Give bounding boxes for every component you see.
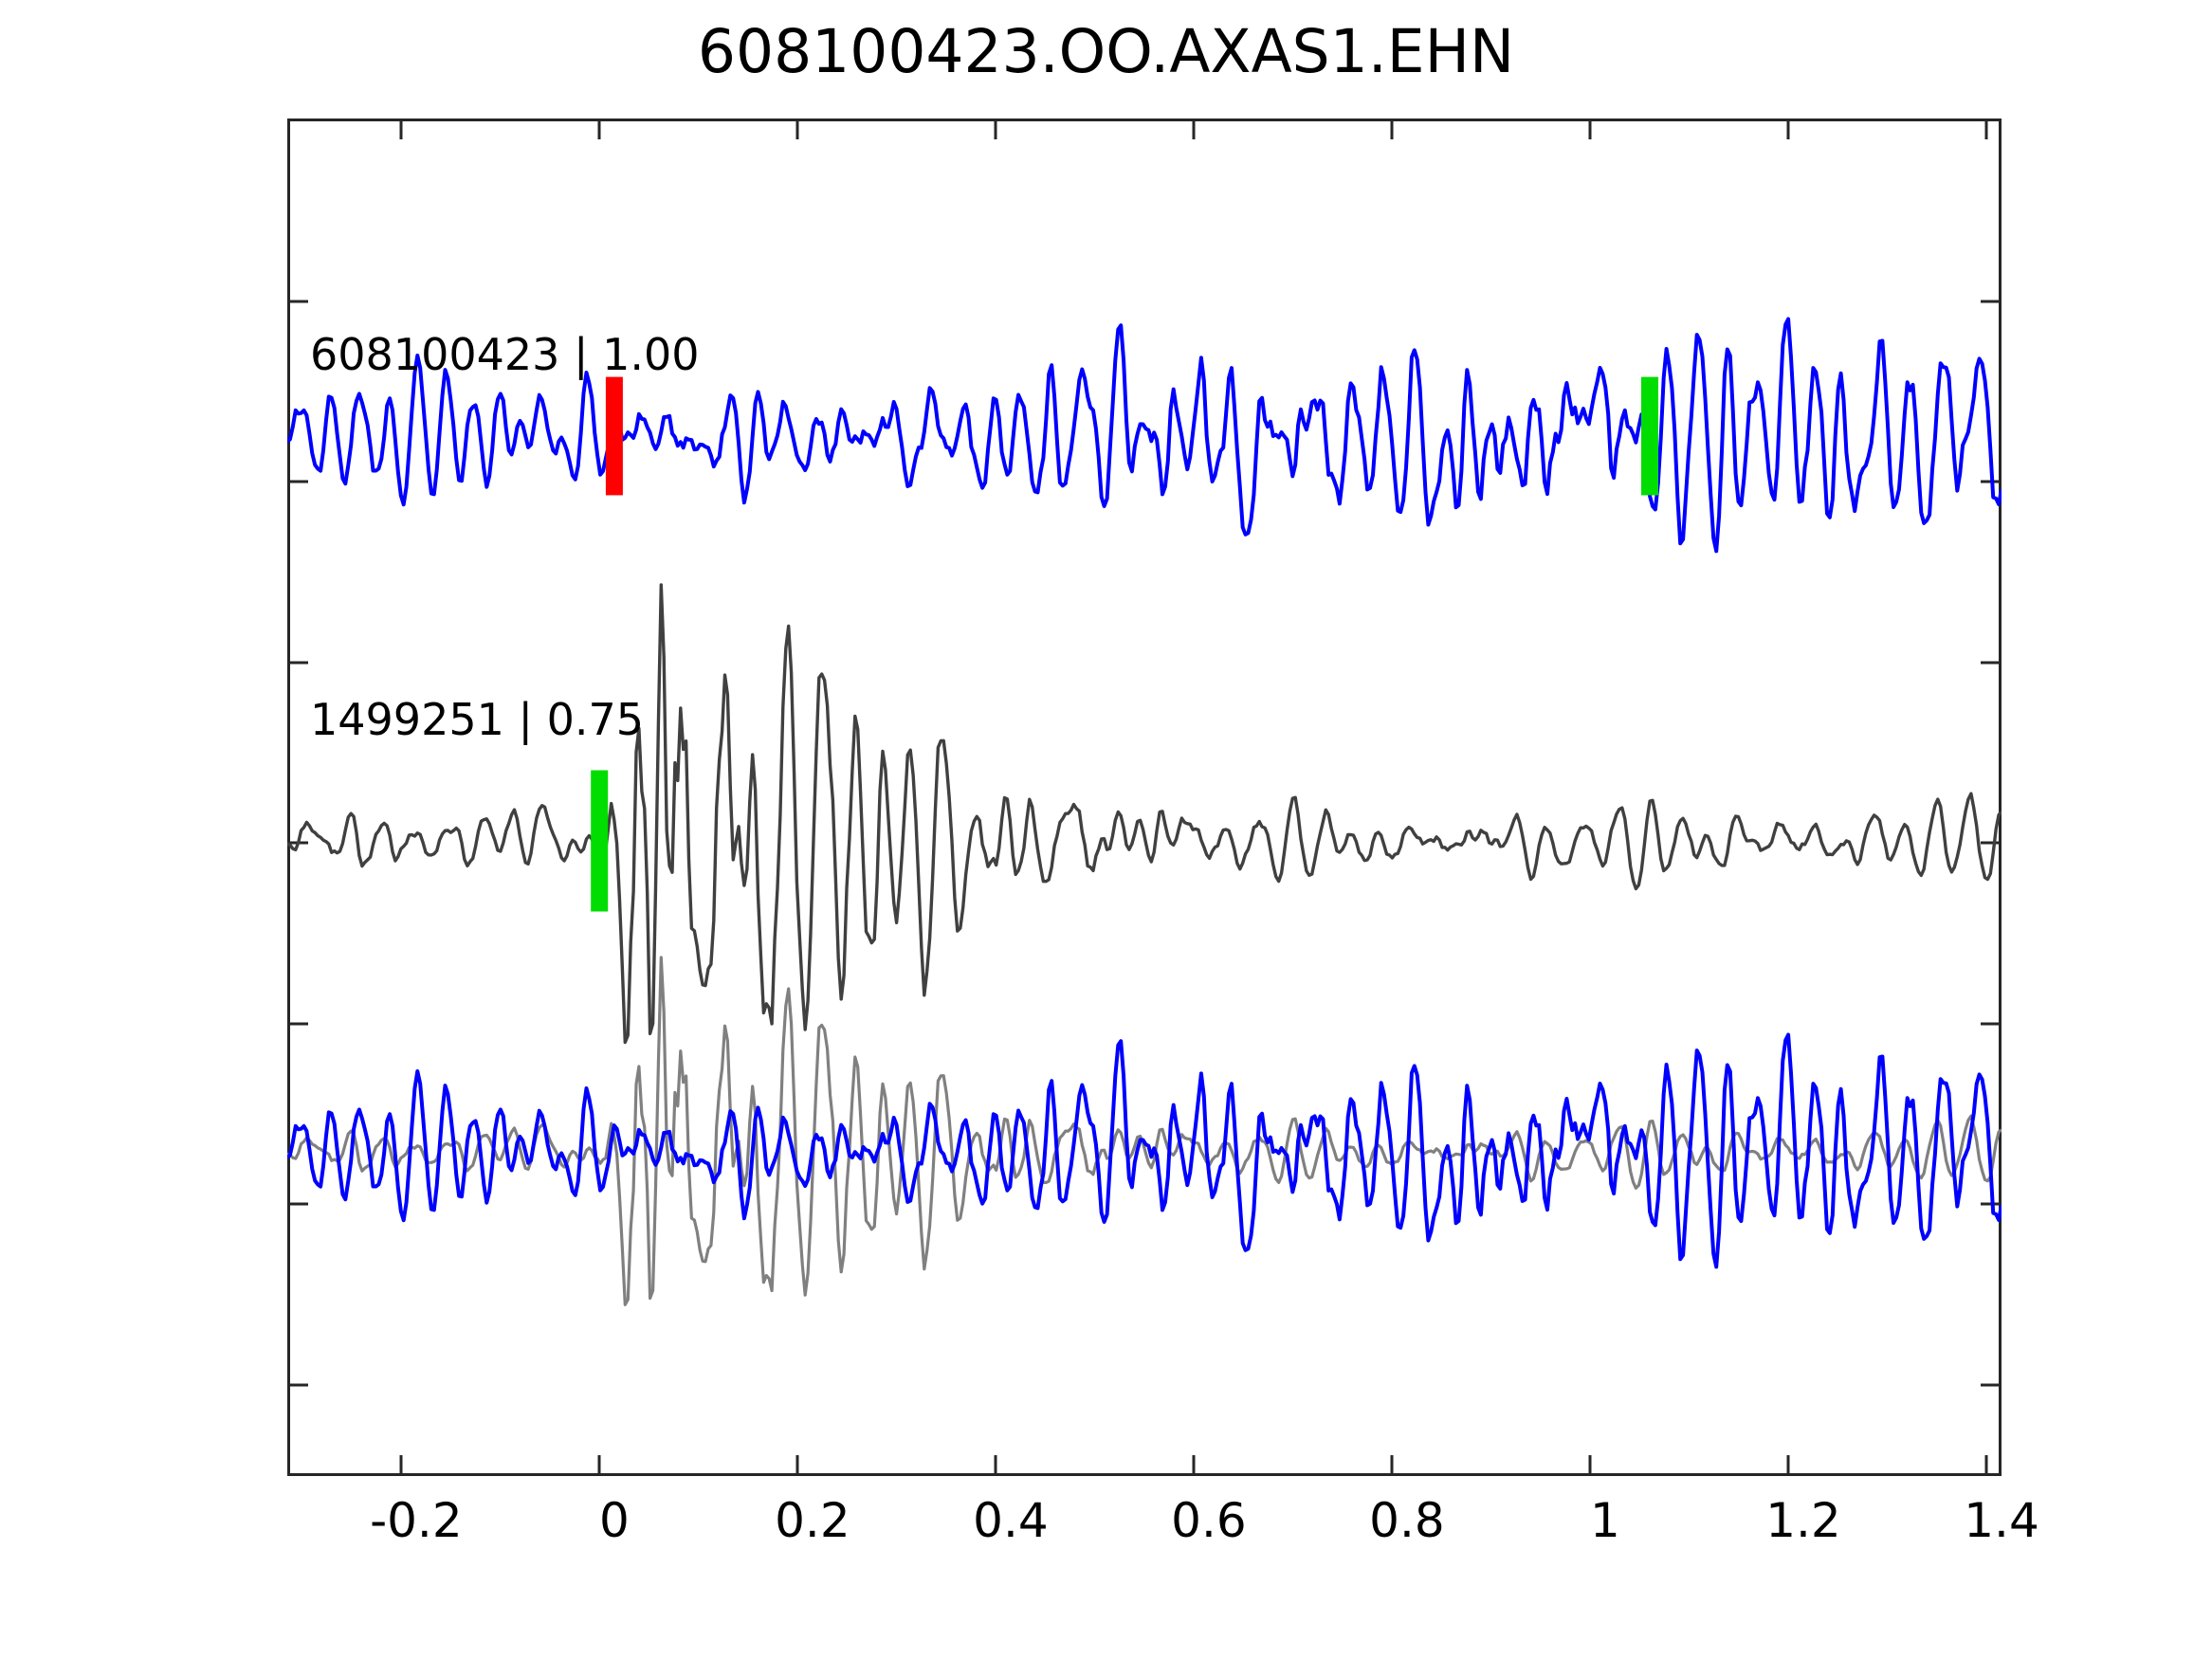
- x-axis-tick-labels: -0.200.20.40.60.811.21.4: [287, 1493, 2002, 1569]
- trace-label-608100423: 608100423 | 1.00: [310, 329, 700, 380]
- waveform-path: [287, 585, 2002, 1043]
- pick-marker-red: [606, 377, 623, 496]
- figure-canvas: 608100423.OO.AXAS1.EHN: [0, 0, 2212, 1659]
- x-tick-label: 0.4: [973, 1493, 1049, 1548]
- x-tick-label: 0.8: [1369, 1493, 1445, 1548]
- waveform-trace-1499251: [287, 585, 2002, 1043]
- plot-axes: 608100423 | 1.00 1499251 | 0.75: [287, 118, 2002, 1476]
- x-tick-label: 0.2: [775, 1493, 850, 1548]
- x-tick-marks: [401, 118, 1986, 1476]
- pick-marker-green: [1641, 377, 1658, 496]
- page-title: 608100423.OO.AXAS1.EHN: [0, 17, 2212, 86]
- waveform-trace-overlay: [287, 957, 2002, 1304]
- waveform-plot-svg: [287, 118, 2002, 1476]
- x-tick-label: 1.2: [1765, 1493, 1841, 1548]
- axes-frame: [289, 120, 2001, 1475]
- x-tick-label: 0.6: [1171, 1493, 1247, 1548]
- pick-marker-green: [591, 771, 608, 912]
- x-tick-label: 0: [599, 1493, 630, 1548]
- x-tick-label: -0.2: [370, 1493, 463, 1548]
- x-tick-label: 1: [1590, 1493, 1620, 1548]
- trace-label-1499251: 1499251 | 0.75: [310, 694, 644, 745]
- x-tick-label: 1.4: [1964, 1493, 2039, 1548]
